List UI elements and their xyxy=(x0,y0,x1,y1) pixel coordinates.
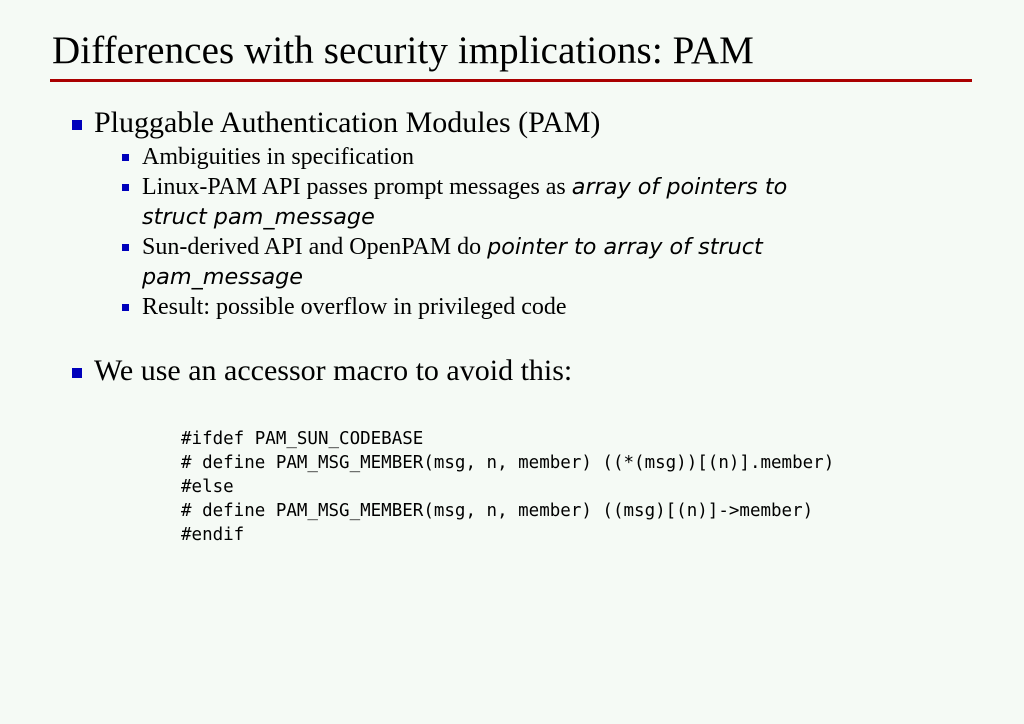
bullet-level2-sun-openpam-label: Sun-derived API and OpenPAM do pointer t… xyxy=(142,232,854,292)
title-underline-rule xyxy=(50,79,972,82)
code-snippet: #ifdef PAM_SUN_CODEBASE # define PAM_MSG… xyxy=(181,427,834,547)
bullet-level1-pam-label: Pluggable Authentication Modules (PAM) xyxy=(94,106,600,139)
square-bullet-icon xyxy=(122,184,129,191)
code-line: # define PAM_MSG_MEMBER(msg, n, member) … xyxy=(181,453,834,473)
bullet-level2-linux-pam: Linux-PAM API passes prompt messages as … xyxy=(0,172,1024,232)
slide-body: Pluggable Authentication Modules (PAM) A… xyxy=(0,104,1024,390)
bullet-level2-linux-pam-plain: Linux-PAM API passes prompt messages as xyxy=(142,174,572,200)
page-title: Differences with security implications: … xyxy=(50,28,972,76)
code-line: #else xyxy=(181,477,234,497)
bullet-level1-accessor-macro: We use an accessor macro to avoid this: xyxy=(0,352,1024,390)
square-bullet-icon xyxy=(122,304,129,311)
bullet-level2-sun-openpam: Sun-derived API and OpenPAM do pointer t… xyxy=(0,232,1024,292)
square-bullet-icon xyxy=(72,368,82,378)
code-line: # define PAM_MSG_MEMBER(msg, n, member) … xyxy=(181,501,813,521)
bullet-level1-pam: Pluggable Authentication Modules (PAM) xyxy=(0,104,1024,142)
code-line: #ifdef PAM_SUN_CODEBASE xyxy=(181,429,423,449)
presentation-slide: Differences with security implications: … xyxy=(0,0,1024,724)
bullet-level1-accessor-macro-label: We use an accessor macro to avoid this: xyxy=(94,354,572,387)
square-bullet-icon xyxy=(122,244,129,251)
outline-spacer xyxy=(0,322,1024,352)
bullet-level2-linux-pam-label: Linux-PAM API passes prompt messages as … xyxy=(142,172,854,232)
bullet-level2-ambiguities: Ambiguities in specification xyxy=(0,142,1024,172)
code-line: #endif xyxy=(181,525,244,545)
bullet-level2-result-overflow-label: Result: possible overflow in privileged … xyxy=(142,292,854,322)
bullet-level2-sun-openpam-plain: Sun-derived API and OpenPAM do xyxy=(142,234,487,260)
bullet-level2-ambiguities-label: Ambiguities in specification xyxy=(142,142,854,172)
slide-title-block: Differences with security implications: … xyxy=(50,28,972,82)
square-bullet-icon xyxy=(122,154,129,161)
bullet-level2-result-overflow: Result: possible overflow in privileged … xyxy=(0,292,1024,322)
square-bullet-icon xyxy=(72,120,82,130)
